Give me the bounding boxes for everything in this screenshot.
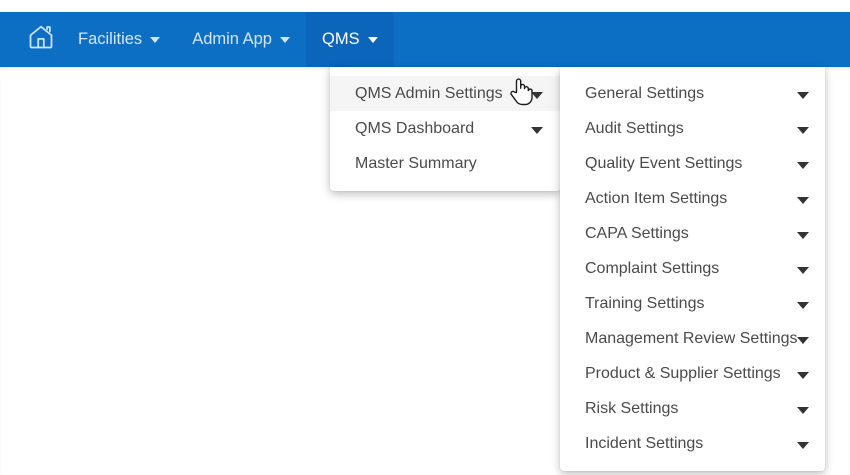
submenu-item-audit-settings[interactable]: Audit Settings (560, 111, 825, 146)
menu-item-master-summary-label: Master Summary (355, 155, 477, 173)
chevron-down-icon (531, 92, 543, 99)
submenu-item-product-supplier-settings-label: Product & Supplier Settings (585, 365, 781, 383)
chevron-down-icon (797, 442, 809, 449)
submenu-item-risk-settings[interactable]: Risk Settings (560, 391, 825, 426)
chevron-down-icon (797, 92, 809, 99)
submenu-item-incident-settings[interactable]: Incident Settings (560, 426, 825, 461)
top-white-strip (0, 0, 850, 12)
submenu-item-capa-settings[interactable]: CAPA Settings (560, 216, 825, 251)
nav-item-admin-app[interactable]: Admin App (176, 12, 306, 67)
submenu-item-incident-settings-label: Incident Settings (585, 435, 703, 453)
chevron-down-icon (797, 302, 809, 309)
nav-item-facilities-label: Facilities (78, 30, 142, 49)
nav-item-facilities[interactable]: Facilities (62, 12, 176, 67)
home-icon (26, 23, 56, 56)
qms-dropdown-menu: QMS Admin Settings QMS Dashboard Master … (330, 67, 561, 191)
chevron-down-icon (280, 37, 290, 43)
submenu-item-capa-settings-label: CAPA Settings (585, 225, 689, 243)
menu-item-qms-dashboard-label: QMS Dashboard (355, 120, 474, 138)
menu-item-qms-admin-settings-label: QMS Admin Settings (355, 85, 503, 103)
submenu-item-management-review-settings-label: Management Review Settings (585, 330, 798, 348)
submenu-item-quality-event-settings-label: Quality Event Settings (585, 155, 742, 173)
main-navbar: Facilities Admin App QMS (0, 12, 850, 67)
home-button[interactable] (0, 12, 62, 67)
submenu-item-action-item-settings-label: Action Item Settings (585, 190, 727, 208)
submenu-item-management-review-settings[interactable]: Management Review Settings (560, 321, 825, 356)
submenu-item-training-settings[interactable]: Training Settings (560, 286, 825, 321)
submenu-item-complaint-settings-label: Complaint Settings (585, 260, 719, 278)
submenu-item-product-supplier-settings[interactable]: Product & Supplier Settings (560, 356, 825, 391)
chevron-down-icon (797, 372, 809, 379)
submenu-item-training-settings-label: Training Settings (585, 295, 704, 313)
menu-item-qms-admin-settings[interactable]: QMS Admin Settings (330, 76, 561, 111)
submenu-item-risk-settings-label: Risk Settings (585, 400, 678, 418)
nav-item-admin-app-label: Admin App (192, 30, 272, 49)
chevron-down-icon (531, 127, 543, 134)
menu-item-qms-dashboard[interactable]: QMS Dashboard (330, 111, 561, 146)
chevron-down-icon (797, 232, 809, 239)
chevron-down-icon (797, 162, 809, 169)
nav-item-qms-label: QMS (322, 30, 360, 49)
chevron-down-icon (797, 267, 809, 274)
submenu-item-action-item-settings[interactable]: Action Item Settings (560, 181, 825, 216)
submenu-item-complaint-settings[interactable]: Complaint Settings (560, 251, 825, 286)
chevron-down-icon (368, 37, 378, 43)
submenu-item-general-settings[interactable]: General Settings (560, 76, 825, 111)
submenu-item-audit-settings-label: Audit Settings (585, 120, 684, 138)
chevron-down-icon (797, 127, 809, 134)
chevron-down-icon (797, 197, 809, 204)
nav-item-qms[interactable]: QMS (306, 12, 394, 67)
submenu-item-general-settings-label: General Settings (585, 85, 704, 103)
qms-admin-settings-submenu: General Settings Audit Settings Quality … (560, 67, 825, 471)
chevron-down-icon (797, 407, 809, 414)
submenu-item-quality-event-settings[interactable]: Quality Event Settings (560, 146, 825, 181)
menu-item-master-summary[interactable]: Master Summary (330, 146, 561, 181)
chevron-down-icon (797, 337, 809, 344)
chevron-down-icon (150, 37, 160, 43)
